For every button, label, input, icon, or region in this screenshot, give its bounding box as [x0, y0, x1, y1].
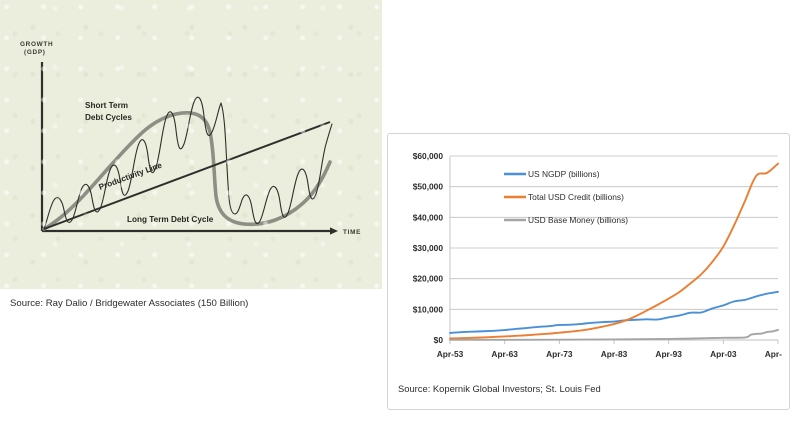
y-tick-label: $10,000 — [413, 304, 444, 314]
debt-cycle-diagram: GROWTH (GDP) TIME Short Term Debt Cycles… — [0, 0, 382, 289]
x-tick-label: Apr-53 — [437, 349, 464, 359]
chart-x-ticks: Apr-53Apr-63Apr-73Apr-83Apr-93Apr-03Apr-… — [437, 340, 782, 359]
x-axis-arrow — [330, 227, 338, 234]
short-term-label-line1: Short Term — [85, 101, 128, 110]
long-term-debt-cycle-label: Long Term Debt Cycle — [127, 215, 214, 224]
chart-y-ticks: $0$10,000$20,000$30,000$40,000$50,000$60… — [413, 151, 444, 345]
x-tick-label: Apr-63 — [491, 349, 518, 359]
y-tick-label: $40,000 — [413, 212, 444, 222]
right-figure-panel: $0$10,000$20,000$30,000$40,000$50,000$60… — [387, 133, 790, 410]
series-line — [450, 164, 778, 339]
x-tick-label: Apr-93 — [655, 349, 682, 359]
usd-credit-chart-svg: $0$10,000$20,000$30,000$40,000$50,000$60… — [396, 140, 782, 377]
y-tick-label: $30,000 — [413, 243, 444, 253]
right-figure-source: Source: Kopernik Global Investors; St. L… — [398, 383, 778, 394]
y-axis-caption-gdp: (GDP) — [24, 49, 46, 56]
chart-series — [450, 164, 778, 340]
x-tick-label: Apr-13 — [765, 349, 782, 359]
chart-gridlines — [450, 156, 778, 340]
left-figure-source: Source: Ray Dalio / Bridgewater Associat… — [10, 298, 370, 309]
x-axis-caption-time: TIME — [343, 229, 361, 236]
legend-label[interactable]: US NGDP (billions) — [528, 169, 600, 179]
x-tick-label: Apr-73 — [546, 349, 573, 359]
left-figure-panel: GROWTH (GDP) TIME Short Term Debt Cycles… — [0, 0, 382, 289]
series-line — [450, 292, 778, 333]
short-term-label-line2: Debt Cycles — [85, 113, 132, 122]
legend-label[interactable]: Total USD Credit (billions) — [528, 192, 624, 202]
y-axis-caption-growth: GROWTH — [20, 41, 53, 48]
y-tick-label: $50,000 — [413, 182, 444, 192]
debt-cycle-svg: GROWTH (GDP) TIME Short Term Debt Cycles… — [0, 0, 382, 289]
legend-label[interactable]: USD Base Money (billions) — [528, 215, 628, 225]
y-tick-label: $60,000 — [413, 151, 444, 161]
chart-legend[interactable]: US NGDP (billions)Total USD Credit (bill… — [504, 169, 628, 225]
x-tick-label: Apr-83 — [601, 349, 628, 359]
y-tick-label: $20,000 — [413, 274, 444, 284]
usd-credit-chart: $0$10,000$20,000$30,000$40,000$50,000$60… — [396, 140, 782, 377]
x-tick-label: Apr-03 — [710, 349, 737, 359]
y-tick-label: $0 — [434, 335, 444, 345]
